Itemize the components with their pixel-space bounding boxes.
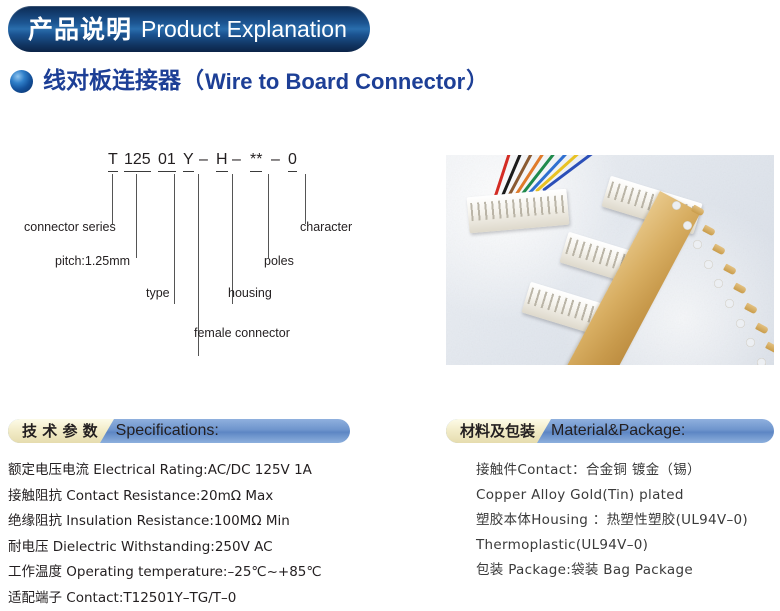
- subtitle-paren-open: （: [182, 71, 204, 93]
- page-title-en: Product Explanation: [141, 18, 347, 41]
- part-number-segment-2: 01: [158, 150, 176, 172]
- part-label-poles: poles: [264, 254, 294, 268]
- leader-line-2: [174, 174, 175, 304]
- specification-row-0: 额定电压电流 Electrical Rating:AC/DC 125V 1A: [8, 458, 428, 484]
- product-subtitle: 线对板连接器 （ Wire to Board Connector ）: [10, 70, 489, 93]
- specification-row-5: 适配端子 Contact:T12501Y–TG/T–0: [8, 586, 428, 611]
- part-label-pitch-mm: pitch:1.25mm: [55, 254, 130, 268]
- leader-line-0: [112, 174, 113, 224]
- part-label-connector-series: connector series: [24, 220, 116, 234]
- part-number-segment-9: 0: [288, 150, 297, 172]
- leader-line-4: [232, 174, 233, 304]
- part-label-type: type: [146, 286, 170, 300]
- part-number-code: T12501Y–H–**–0: [0, 150, 430, 176]
- material-header-cn: 材料及包装: [460, 424, 535, 439]
- part-number-breakdown-diagram: T12501Y–H–**–0 connector seriespitch:1.2…: [0, 150, 430, 350]
- material-header-en: Material&Package:: [551, 423, 685, 439]
- material-section-header: 材料及包装 Material&Package:: [446, 419, 774, 443]
- page-title-banner: 产品说明 Product Explanation: [8, 6, 370, 52]
- part-number-segment-7: **: [250, 150, 262, 172]
- leader-line-6: [305, 174, 306, 224]
- subtitle-paren-close: ）: [466, 71, 488, 93]
- part-label-housing: housing: [228, 286, 272, 300]
- specifications-section-header: 技 术 参 数 Specifications:: [8, 419, 350, 443]
- material-row-0: 接触件Contact：合金铜 镀金（锡）: [476, 458, 776, 483]
- subtitle-en: Wire to Board Connector: [205, 71, 465, 93]
- gold-strip-hole-3: [704, 260, 713, 269]
- specifications-header-cn: 技 术 参 数: [22, 424, 98, 439]
- subtitle-cn: 线对板连接器: [43, 70, 181, 93]
- material-list: 接触件Contact：合金铜 镀金（锡）Copper Alloy Gold(Ti…: [476, 458, 776, 583]
- material-row-2: 塑胶本体Housing ：热塑性塑胶(UL94V–0): [476, 508, 776, 533]
- specification-row-2: 绝缘阻抗 Insulation Resistance:100MΩ Min: [8, 509, 428, 535]
- part-number-segment-6: –: [232, 150, 241, 170]
- material-row-3: Thermoplastic(UL94V–0): [476, 533, 776, 558]
- part-label-character: character: [300, 220, 352, 234]
- part-number-segment-1: 125: [124, 150, 151, 172]
- blue-sphere-bullet-icon: [10, 70, 33, 93]
- gold-strip-hole-8: [757, 358, 766, 365]
- part-number-segment-0: T: [108, 150, 118, 172]
- leader-line-1: [136, 174, 137, 258]
- part-number-segment-4: –: [199, 150, 208, 170]
- part-number-segment-8: –: [271, 150, 280, 170]
- material-row-4: 包装 Package:袋装 Bag Package: [476, 558, 776, 583]
- product-photo: [446, 155, 774, 365]
- connector-teeth: [470, 195, 565, 222]
- leader-line-5: [268, 174, 269, 258]
- gold-strip-hole-6: [736, 319, 745, 328]
- material-row-1: Copper Alloy Gold(Tin) plated: [476, 483, 776, 508]
- specification-row-4: 工作温度 Operating temperature:–25℃~+85℃: [8, 560, 428, 586]
- gold-strip-hole-0: [672, 201, 681, 210]
- part-number-segment-5: H: [216, 150, 228, 172]
- part-number-segment-3: Y: [183, 150, 194, 172]
- part-label-female-connector: female connector: [194, 326, 290, 340]
- gold-strip-hole-5: [725, 299, 734, 308]
- specification-row-1: 接触阻抗 Contact Resistance:20mΩ Max: [8, 484, 428, 510]
- specifications-list: 额定电压电流 Electrical Rating:AC/DC 125V 1A接触…: [8, 458, 428, 611]
- page-title-cn: 产品说明: [28, 17, 132, 42]
- specification-row-3: 耐电压 Dielectric Withstanding:250V AC: [8, 535, 428, 561]
- gold-strip-hole-1: [683, 221, 692, 230]
- specifications-header-en: Specifications:: [116, 423, 219, 439]
